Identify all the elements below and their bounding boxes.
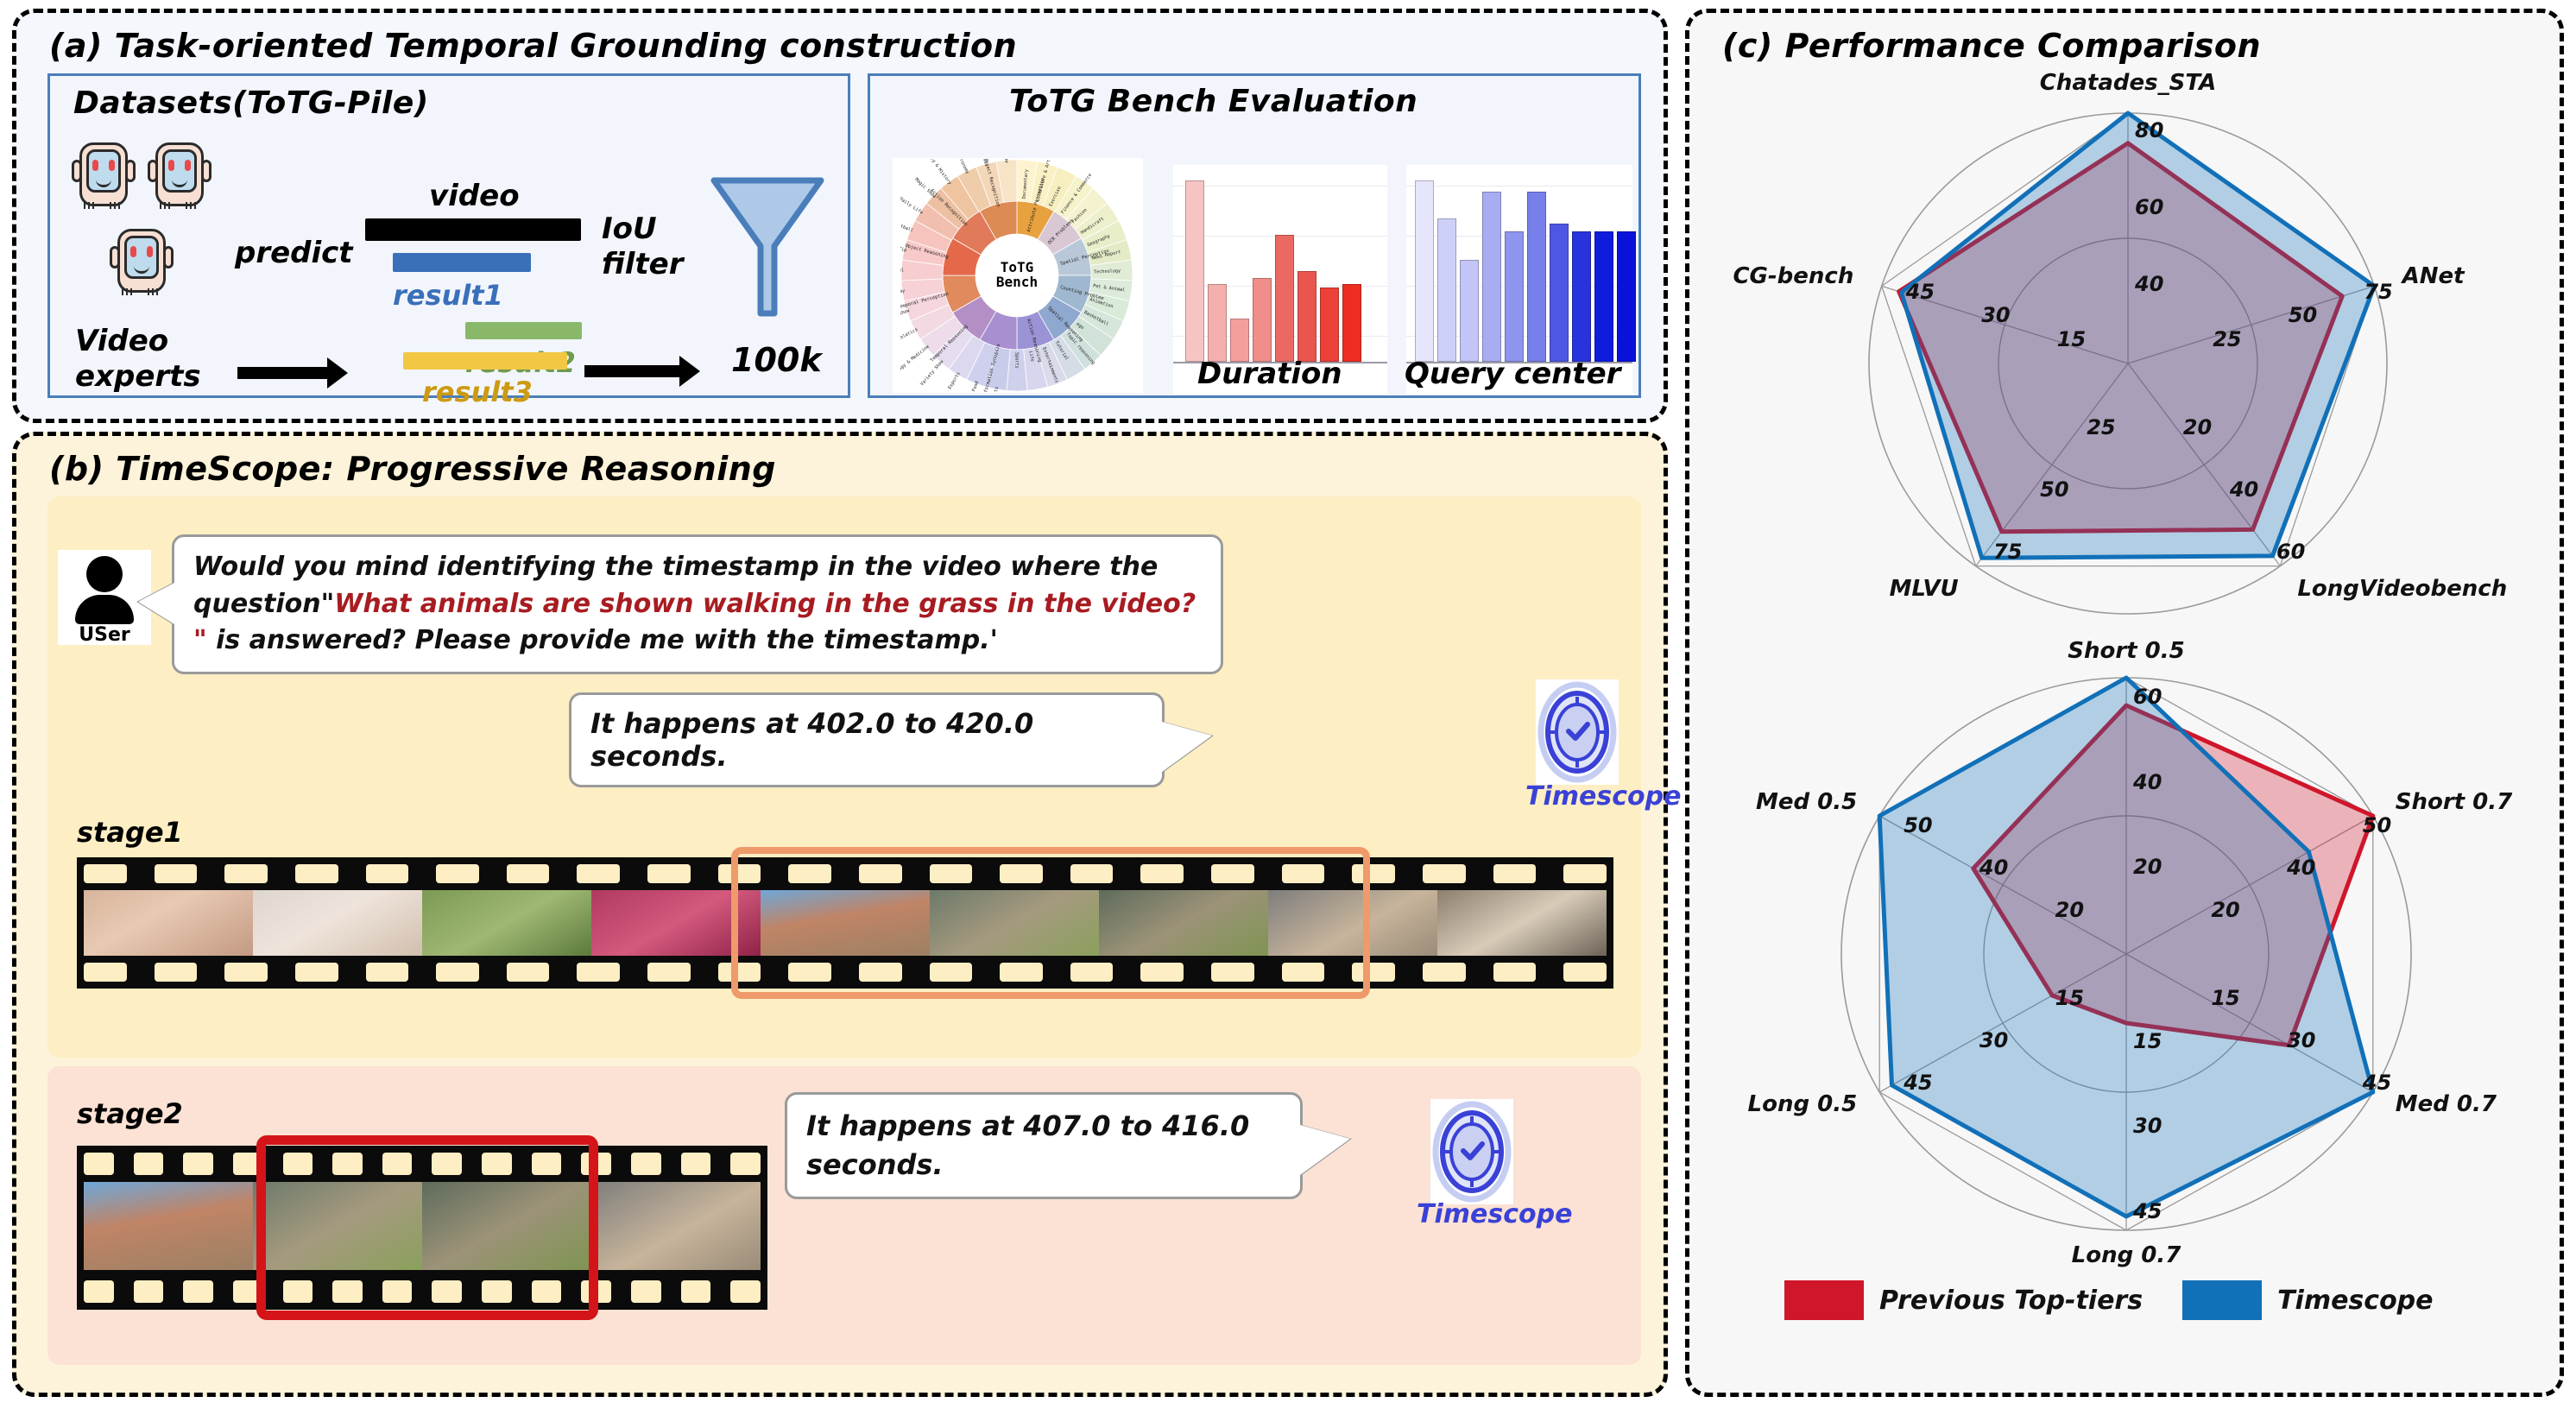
bar <box>1617 231 1636 362</box>
bench-title: ToTG Bench Evaluation <box>1009 84 1417 119</box>
radar-tick-label: 30 <box>2287 1028 2315 1052</box>
video-bar <box>365 218 581 241</box>
question-text-part2: is answered? Please provide me with the … <box>207 625 998 655</box>
bar <box>1505 231 1524 362</box>
svg-text:Sports: Sports <box>1014 352 1020 369</box>
predict-arrow <box>237 367 329 379</box>
bar <box>1230 319 1249 362</box>
robot-icon <box>110 227 174 300</box>
radar-tick-label: 30 <box>1979 1028 2008 1052</box>
svg-text:Esports: Esports <box>947 371 961 390</box>
stage1-filmstrip <box>77 857 1613 989</box>
radar-tick-label: 25 <box>2087 415 2115 439</box>
radar-chart-benchmarks <box>1783 87 2473 640</box>
bar <box>1594 231 1613 362</box>
radar-tick-label: 75 <box>1993 540 2022 564</box>
result3-label: result3 <box>422 376 533 408</box>
bar <box>1342 284 1361 362</box>
radar-axis-label: CG-bench <box>1733 263 1853 289</box>
bar <box>1320 287 1339 362</box>
bar <box>1482 192 1501 362</box>
radar-axis-label: ANet <box>2402 263 2465 289</box>
bar <box>1572 231 1591 362</box>
radar-tick-label: 60 <box>2276 540 2305 564</box>
filmstrip-perforations-top <box>84 1153 761 1175</box>
user-icon-body <box>75 595 134 624</box>
result2-bar <box>465 322 582 339</box>
avatar: USer <box>58 550 151 645</box>
video-frame <box>84 1182 253 1270</box>
radar-legend: Previous Top-tiers Timescope <box>1784 1280 2434 1320</box>
video-frame <box>591 890 761 956</box>
svg-text:Astronomy: Astronomy <box>955 159 970 174</box>
result3-bar <box>403 352 567 370</box>
svg-text:Athletics: Athletics <box>900 327 919 344</box>
stage1-answer-bubble: It happens at 402.0 to 420.0 seconds. <box>569 692 1165 787</box>
stage2-filmstrip <box>77 1146 767 1310</box>
iou-filter-label: IoU filter <box>602 212 684 282</box>
radar-tick-label: 45 <box>2363 1071 2391 1095</box>
legend-label-timescope: Timescope <box>2277 1286 2433 1316</box>
panel-timescope-progressive-reasoning: (b) TimeScope: Progressive Reasoning USe… <box>12 432 1668 1397</box>
bar <box>1460 260 1479 362</box>
radar-tick-label: 15 <box>2133 1029 2162 1053</box>
stage2-label: stage2 <box>77 1097 183 1130</box>
timescope-label: Timescope <box>1417 1199 1572 1229</box>
radar-tick-label: 40 <box>2287 856 2315 880</box>
radar-tick-label: 30 <box>2133 1114 2162 1138</box>
user-question-bubble: Would you mind identifying the timestamp… <box>172 534 1223 674</box>
timescope-label: Timescope <box>1525 781 1681 812</box>
radar-tick-label: 75 <box>2364 280 2392 304</box>
sunburst-hub: ToTG Bench <box>975 234 1058 317</box>
svg-text:Travel: Travel <box>900 268 904 274</box>
video-frame <box>591 1182 761 1270</box>
panel-performance-comparison: (c) Performance Comparison Previous Top-… <box>1685 9 2564 1397</box>
panel-c-title: (c) Performance Comparison <box>1722 27 2261 65</box>
duration-caption: Duration <box>1197 357 1342 391</box>
totg-bench-sunburst-chart: Attribute PerceptionOCR ProblemsSpatial … <box>893 158 1143 393</box>
filmstrip-perforations-bottom <box>84 1280 761 1303</box>
radar-tick-label: 45 <box>2133 1199 2162 1223</box>
legend-swatch-previous <box>1784 1280 1864 1320</box>
timescope-clock-icon <box>1430 1099 1513 1204</box>
radar-tick-label: 15 <box>2057 327 2086 351</box>
bar <box>1208 284 1227 362</box>
radar-axis-label: Short 0.7 <box>2396 789 2512 815</box>
radar-axis-label: Long 0.5 <box>1748 1091 1858 1117</box>
radar-tick-label: 20 <box>2055 898 2084 922</box>
radar-axis-label: Short 0.5 <box>2068 638 2184 664</box>
radar-axis-label: Med 0.7 <box>2396 1091 2497 1117</box>
panel-task-oriented-construction: (a) Task-oriented Temporal Grounding con… <box>12 9 1668 423</box>
radar-tick-label: 45 <box>1904 1071 1932 1095</box>
radar-chart-iou <box>1772 652 2480 1256</box>
video-frame <box>253 1182 422 1270</box>
video-experts-label: Video experts <box>75 324 201 395</box>
predict-label: predict <box>235 236 353 270</box>
legend-label-previous: Previous Top-tiers <box>1879 1286 2143 1316</box>
radar-tick-label: 60 <box>2135 195 2163 219</box>
sunburst-hub-line2: Bench <box>996 275 1038 290</box>
radar-tick-label: 40 <box>2135 272 2163 296</box>
bar <box>1550 224 1569 362</box>
bar <box>1185 180 1204 362</box>
svg-text:Biology & Medicine: Biology & Medicine <box>900 344 931 379</box>
radar-tick-label: 45 <box>1906 280 1935 304</box>
stage2-answer-bubble: It happens at 407.0 to 416.0 seconds. <box>785 1092 1303 1199</box>
radar-axis-label: Med 0.5 <box>1756 789 1857 815</box>
funnel-icon <box>707 174 828 320</box>
stage2-frames <box>84 1182 761 1270</box>
radar-tick-label: 20 <box>2183 415 2212 439</box>
filmstrip-perforations-bottom <box>84 963 1607 982</box>
timescope-clock-icon <box>1536 679 1619 785</box>
radar-tick-label: 50 <box>1904 813 1932 837</box>
result1-label: result1 <box>393 279 503 312</box>
svg-text:Daily Life: Daily Life <box>900 197 924 216</box>
robot-icon <box>72 141 136 213</box>
radar-tick-label: 20 <box>2211 898 2239 922</box>
filmstrip-perforations-top <box>84 864 1607 883</box>
bar <box>1253 278 1272 362</box>
video-frame <box>761 890 930 956</box>
iou-filter-arrow <box>584 365 681 377</box>
user-icon <box>86 556 123 592</box>
bar <box>1437 218 1456 362</box>
stage1-answer-text: It happens at 402.0 to 420.0 seconds. <box>590 707 1033 773</box>
radar-tick-label: 40 <box>1979 856 2008 880</box>
output-count-label: 100k <box>731 341 822 379</box>
svg-text:Humanity & History: Humanity & History <box>919 159 952 186</box>
query-center-bars <box>1415 180 1636 362</box>
radar-tick-label: 50 <box>2040 477 2068 502</box>
datasets-title: Datasets(ToTG-Pile) <box>73 85 429 121</box>
video-label: video <box>429 179 520 213</box>
stage1-label: stage1 <box>77 816 183 849</box>
video-frame <box>1268 890 1437 956</box>
bar <box>1297 271 1316 362</box>
radar-tick-label: 50 <box>2289 303 2317 327</box>
stage1-frames <box>84 890 1607 956</box>
panel-a-title: (a) Task-oriented Temporal Grounding con… <box>49 27 1017 65</box>
radar-axis-label: LongVideobench <box>2297 576 2507 602</box>
bar <box>1415 180 1434 362</box>
bar <box>1275 235 1294 362</box>
radar-axis-label: Long 0.7 <box>2072 1242 2181 1268</box>
video-frame <box>84 890 253 956</box>
video-frame <box>1437 890 1607 956</box>
radar-tick-label: 15 <box>2211 986 2239 1010</box>
radar-tick-label: 15 <box>2055 986 2084 1010</box>
video-frame <box>1099 890 1268 956</box>
radar-tick-label: 30 <box>1981 303 2010 327</box>
duration-bars <box>1185 180 1361 362</box>
radar-tick-label: 40 <box>2133 770 2162 794</box>
radar-axis-label: Chatades_STA <box>2040 70 2216 96</box>
radar-tick-label: 60 <box>2133 685 2162 709</box>
radar-tick-label: 25 <box>2213 327 2241 351</box>
video-frame <box>422 1182 591 1270</box>
radar-tick-label: 40 <box>2230 477 2258 502</box>
radar-tick-label: 20 <box>2133 855 2162 879</box>
radar-tick-label: 80 <box>2135 118 2163 142</box>
legend-swatch-timescope <box>2182 1280 2262 1320</box>
bar <box>1527 192 1546 362</box>
video-frame <box>253 890 422 956</box>
robot-icon <box>148 141 212 213</box>
radar-tick-label: 50 <box>2363 813 2391 837</box>
stage2-answer-text: It happens at 407.0 to 416.0 seconds. <box>806 1109 1249 1181</box>
query-center-caption: Query center <box>1405 357 1620 391</box>
panel-b-title: (b) TimeScope: Progressive Reasoning <box>49 450 776 488</box>
radar-axis-label: MLVU <box>1890 576 1959 602</box>
video-frame <box>930 890 1099 956</box>
user-name-label: USer <box>79 626 129 645</box>
result1-bar <box>393 253 531 272</box>
video-frame <box>422 890 591 956</box>
